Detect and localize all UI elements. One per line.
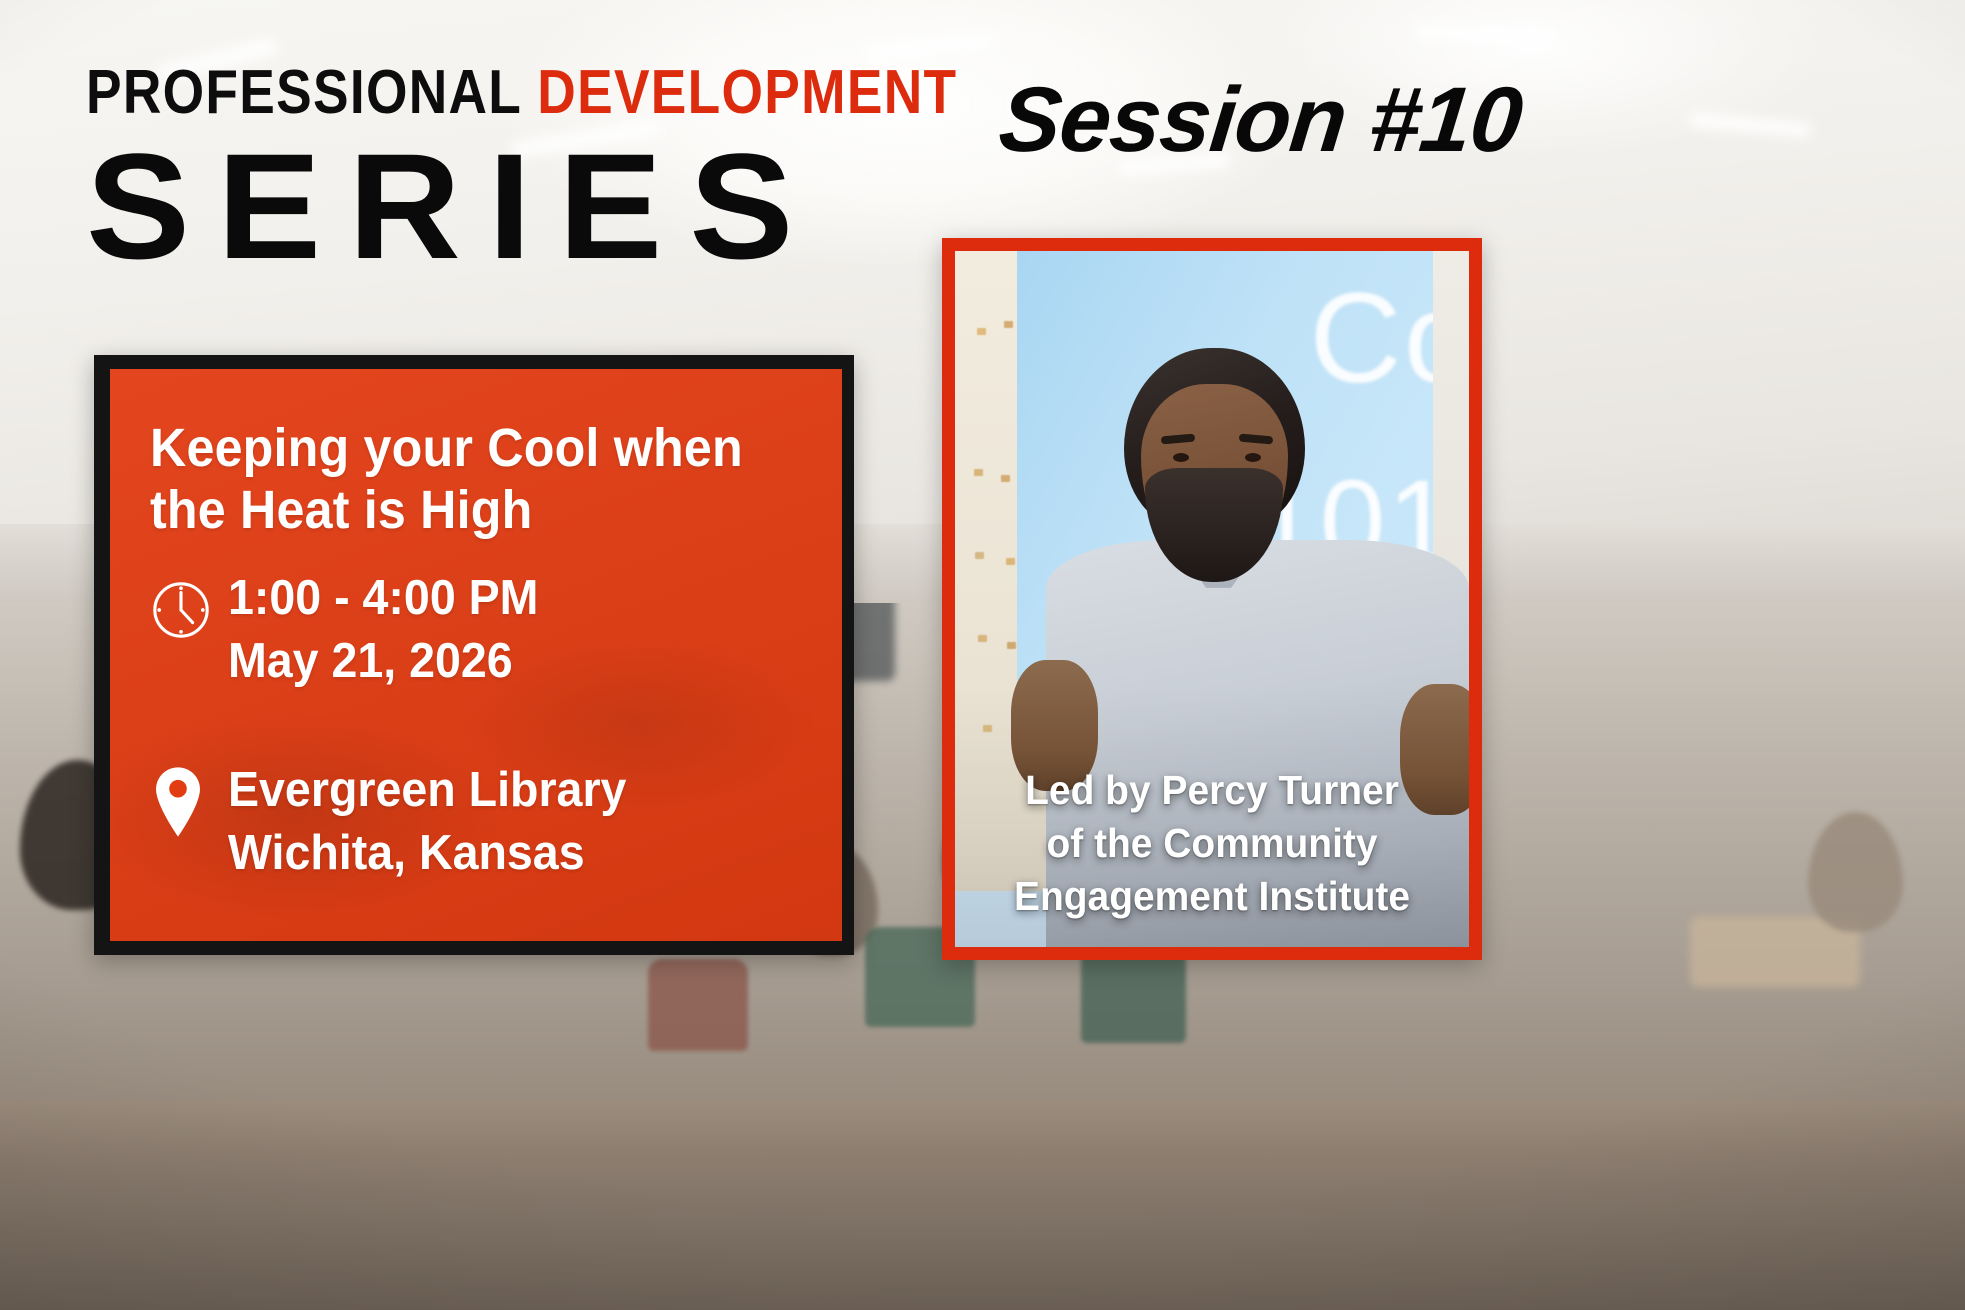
event-time-row: 1:00 - 4:00 PM May 21, 2026 — [150, 567, 808, 693]
sticky-note — [977, 328, 986, 335]
session-number-label: Session #10 — [995, 72, 1526, 168]
event-time: 1:00 - 4:00 PM — [228, 567, 538, 630]
map-pin-icon — [150, 759, 228, 839]
sticky-note — [1004, 321, 1013, 328]
sticky-note — [983, 725, 992, 732]
event-date: May 21, 2026 — [228, 630, 538, 693]
sticky-note — [978, 635, 987, 642]
eyebrow — [1239, 433, 1274, 444]
event-title-line-1: Keeping your Cool when — [150, 417, 762, 479]
eye — [1173, 453, 1189, 462]
sticky-note — [1007, 642, 1016, 649]
speaker-photo-panel: Co 101 H AN Le — [942, 238, 1482, 960]
event-location-row: Evergreen Library Wichita, Kansas — [150, 759, 808, 885]
speaker-caption-line-2: of the Community — [983, 817, 1441, 870]
speaker-caption-line-3: Engagement Institute — [983, 870, 1441, 923]
eyebrow — [1161, 433, 1196, 444]
event-title-line-2: the Heat is High — [150, 479, 762, 541]
flyer-canvas: PROFESSIONAL DEVELOPMENT SERIES Session … — [0, 0, 1965, 1310]
event-time-text: 1:00 - 4:00 PM May 21, 2026 — [228, 567, 538, 693]
speaker-caption-line-1: Led by Percy Turner — [983, 764, 1441, 817]
event-city-state: Wichita, Kansas — [228, 822, 626, 885]
event-title: Keeping your Cool when the Heat is High — [150, 417, 762, 541]
event-venue: Evergreen Library — [228, 759, 626, 822]
eye — [1245, 453, 1261, 462]
header-professional: PROFESSIONAL — [86, 58, 537, 127]
sticky-note — [974, 469, 983, 476]
sticky-note — [1001, 475, 1010, 482]
clock-icon — [150, 567, 228, 641]
header-development: DEVELOPMENT — [537, 58, 957, 127]
header-line-1: PROFESSIONAL DEVELOPMENT — [86, 62, 957, 124]
speaker-photo-image: Co 101 H AN Le — [955, 251, 1469, 947]
sticky-note — [975, 552, 984, 559]
speaker-caption: Led by Percy Turner of the Community Eng… — [968, 764, 1456, 923]
event-location-text: Evergreen Library Wichita, Kansas — [228, 759, 626, 885]
event-details-card: Keeping your Cool when the Heat is High — [94, 355, 854, 955]
sticky-note — [1006, 558, 1015, 565]
event-card-inner: Keeping your Cool when the Heat is High — [110, 369, 842, 941]
